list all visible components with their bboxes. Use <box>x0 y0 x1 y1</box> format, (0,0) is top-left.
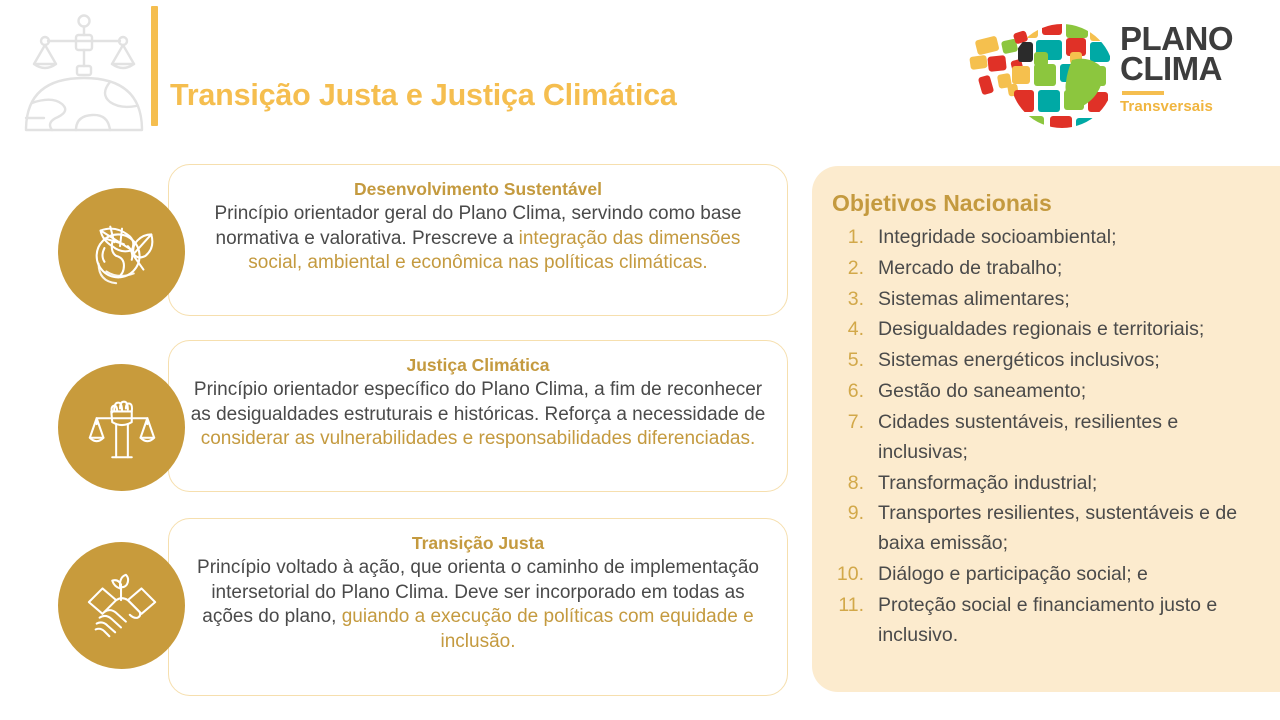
list-item-number: 6. <box>832 377 878 407</box>
list-item-number: 4. <box>832 315 878 345</box>
card-text: Princípio orientador específico do Plano… <box>187 378 769 452</box>
list-item-label: Integridade socioambiental; <box>878 223 1264 253</box>
list-item-number: 3. <box>832 285 878 315</box>
list-item-label: Transportes resilientes, sustentáveis e … <box>878 499 1264 559</box>
mosaic-globe-icon <box>968 16 1116 136</box>
list-item-number: 11. <box>832 591 878 621</box>
card-title: Transição Justa <box>187 533 769 555</box>
card-text-plain: Princípio orientador específico do Plano… <box>191 379 766 425</box>
objectives-title: Objetivos Nacionais <box>832 190 1264 217</box>
slide-header: Transição Justa e Justiça Climática <box>0 0 1280 150</box>
globe-with-leaves-icon <box>58 188 185 315</box>
list-item: 9. Transportes resilientes, sustentáveis… <box>832 499 1264 559</box>
list-item-number: 9. <box>832 499 878 529</box>
list-item: 1. Integridade socioambiental; <box>832 223 1264 253</box>
scales-over-globe-icon <box>18 8 150 133</box>
list-item-label: Desigualdades regionais e territoriais; <box>878 315 1264 345</box>
list-item-number: 7. <box>832 408 878 438</box>
list-item: 10. Diálogo e participação social; e <box>832 560 1264 590</box>
list-item: 8. Transformação industrial; <box>832 469 1264 499</box>
list-item-number: 8. <box>832 469 878 499</box>
card-title: Justiça Climática <box>187 355 769 377</box>
principle-card-body: Justiça Climática Princípio orientador e… <box>168 340 788 492</box>
list-item: 2. Mercado de trabalho; <box>832 254 1264 284</box>
list-item-label: Diálogo e participação social; e <box>878 560 1264 590</box>
list-item: 11. Proteção social e financiamento just… <box>832 591 1264 651</box>
handshake-with-sprout-icon <box>58 542 185 669</box>
list-item-label: Cidades sustentáveis, resilientes e incl… <box>878 408 1264 468</box>
header-divider-bar <box>151 6 158 126</box>
logo-subtitle: Transversais <box>1120 98 1270 115</box>
logo-wordmark: PLANO CLIMA Transversais <box>1120 24 1270 115</box>
logo-line-clima: CLIMA <box>1120 54 1270 84</box>
list-item-label: Gestão do saneamento; <box>878 377 1264 407</box>
list-item-number: 1. <box>832 223 878 253</box>
page-title: Transição Justa e Justiça Climática <box>170 78 677 113</box>
list-item: 7. Cidades sustentáveis, resilientes e i… <box>832 408 1264 468</box>
list-item-number: 2. <box>832 254 878 284</box>
list-item-label: Transformação industrial; <box>878 469 1264 499</box>
principle-card-body: Desenvolvimento Sustentável Princípio or… <box>168 164 788 316</box>
list-item-number: 10. <box>832 560 878 590</box>
slide: Transição Justa e Justiça Climática <box>0 0 1280 720</box>
objectives-list: 1. Integridade socioambiental; 2. Mercad… <box>832 223 1264 651</box>
card-text: Princípio orientador geral do Plano Clim… <box>187 202 769 276</box>
principle-card-body: Transição Justa Princípio voltado à ação… <box>168 518 788 696</box>
list-item-label: Sistemas energéticos inclusivos; <box>878 346 1264 376</box>
list-item-label: Mercado de trabalho; <box>878 254 1264 284</box>
card-text-highlight: considerar as vulnerabilidades e respons… <box>201 428 756 449</box>
list-item-number: 5. <box>832 346 878 376</box>
scales-with-raised-fist-icon <box>58 364 185 491</box>
list-item: 4. Desigualdades regionais e territoriai… <box>832 315 1264 345</box>
objectives-panel: Objetivos Nacionais 1. Integridade socio… <box>812 166 1280 692</box>
card-text: Princípio voltado à ação, que orienta o … <box>187 556 769 655</box>
principles-column: Desenvolvimento Sustentável Princípio or… <box>0 150 800 710</box>
logo-underline <box>1122 91 1164 96</box>
plano-clima-logo: PLANO CLIMA Transversais <box>948 8 1268 138</box>
list-item: 6. Gestão do saneamento; <box>832 377 1264 407</box>
list-item: 5. Sistemas energéticos inclusivos; <box>832 346 1264 376</box>
list-item: 3. Sistemas alimentares; <box>832 285 1264 315</box>
list-item-label: Proteção social e financiamento justo e … <box>878 591 1264 651</box>
card-text-highlight: guiando a execução de políticas com equi… <box>342 606 754 652</box>
list-item-label: Sistemas alimentares; <box>878 285 1264 315</box>
card-title: Desenvolvimento Sustentável <box>187 179 769 201</box>
